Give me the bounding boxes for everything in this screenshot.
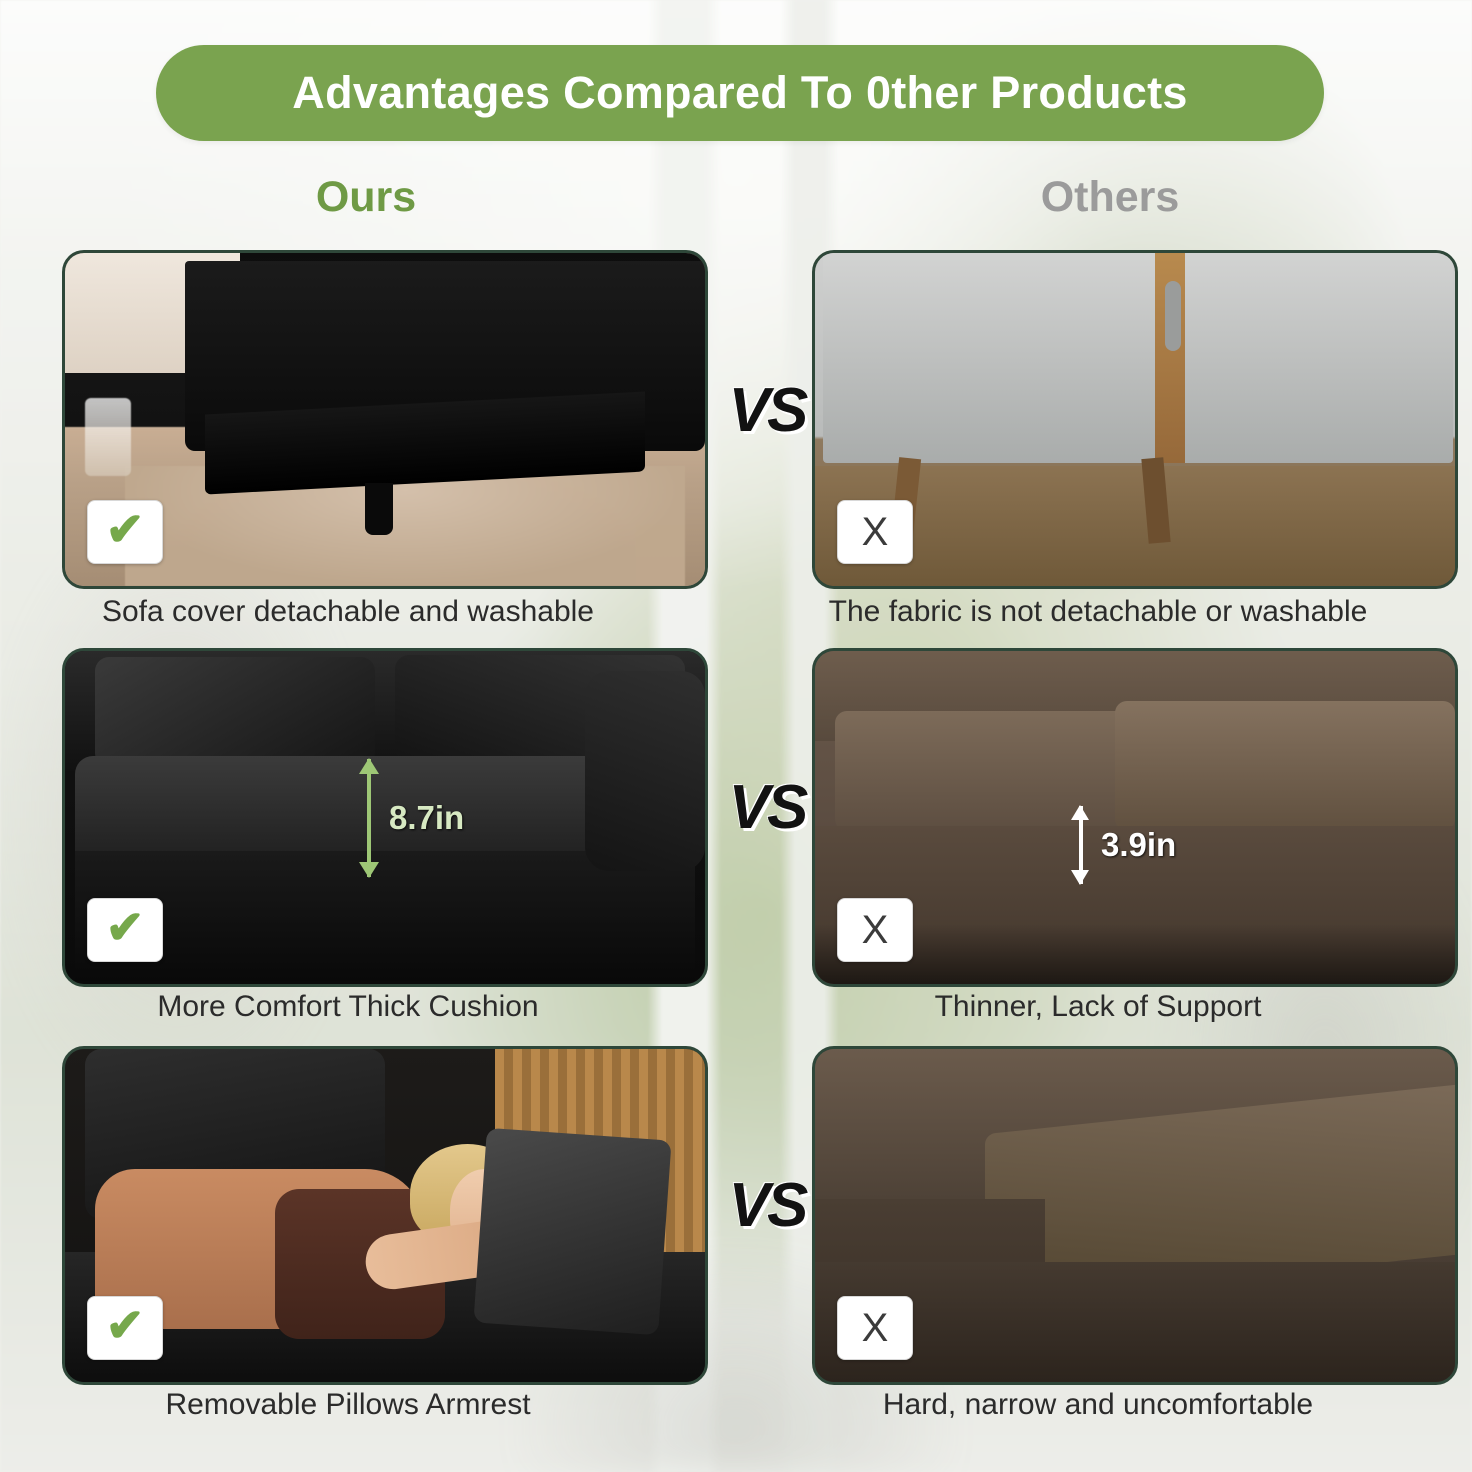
badge-cross-3: X [837, 1296, 913, 1360]
x-icon: X [862, 1308, 889, 1348]
x-icon: X [862, 512, 889, 552]
page-title-banner: Advantages Compared To 0ther Products [156, 45, 1324, 141]
x-icon: X [862, 910, 889, 950]
caption-others-2: Thinner, Lack of Support [778, 990, 1418, 1024]
check-icon: ✔ [106, 1302, 145, 1348]
column-heading-ours: Ours [86, 173, 646, 222]
comparison-card-ours-1: ✔ [62, 250, 708, 589]
badge-cross-2: X [837, 898, 913, 962]
badge-cross-1: X [837, 500, 913, 564]
comparison-card-others-3: X [812, 1046, 1458, 1385]
caption-others-1: The fabric is not detachable or washable [778, 595, 1418, 629]
measurement-label-others-2: 3.9in [1101, 826, 1176, 864]
check-icon: ✔ [106, 506, 145, 552]
badge-check-1: ✔ [87, 500, 163, 564]
comparison-card-others-1: X [812, 250, 1458, 589]
column-heading-others: Others [830, 173, 1390, 222]
caption-ours-1: Sofa cover detachable and washable [28, 595, 668, 629]
caption-ours-2: More Comfort Thick Cushion [28, 990, 668, 1024]
comparison-card-ours-3: ✔ [62, 1046, 708, 1385]
check-icon: ✔ [106, 904, 145, 950]
badge-check-3: ✔ [87, 1296, 163, 1360]
comparison-card-others-2: 3.9in X [812, 648, 1458, 987]
measurement-label-ours-2: 8.7in [389, 799, 464, 837]
caption-ours-3: Removable Pillows Armrest [28, 1388, 668, 1422]
page-title: Advantages Compared To 0ther Products [292, 67, 1187, 119]
comparison-card-ours-2: 8.7in ✔ [62, 648, 708, 987]
caption-others-3: Hard, narrow and uncomfortable [778, 1388, 1418, 1422]
badge-check-2: ✔ [87, 898, 163, 962]
